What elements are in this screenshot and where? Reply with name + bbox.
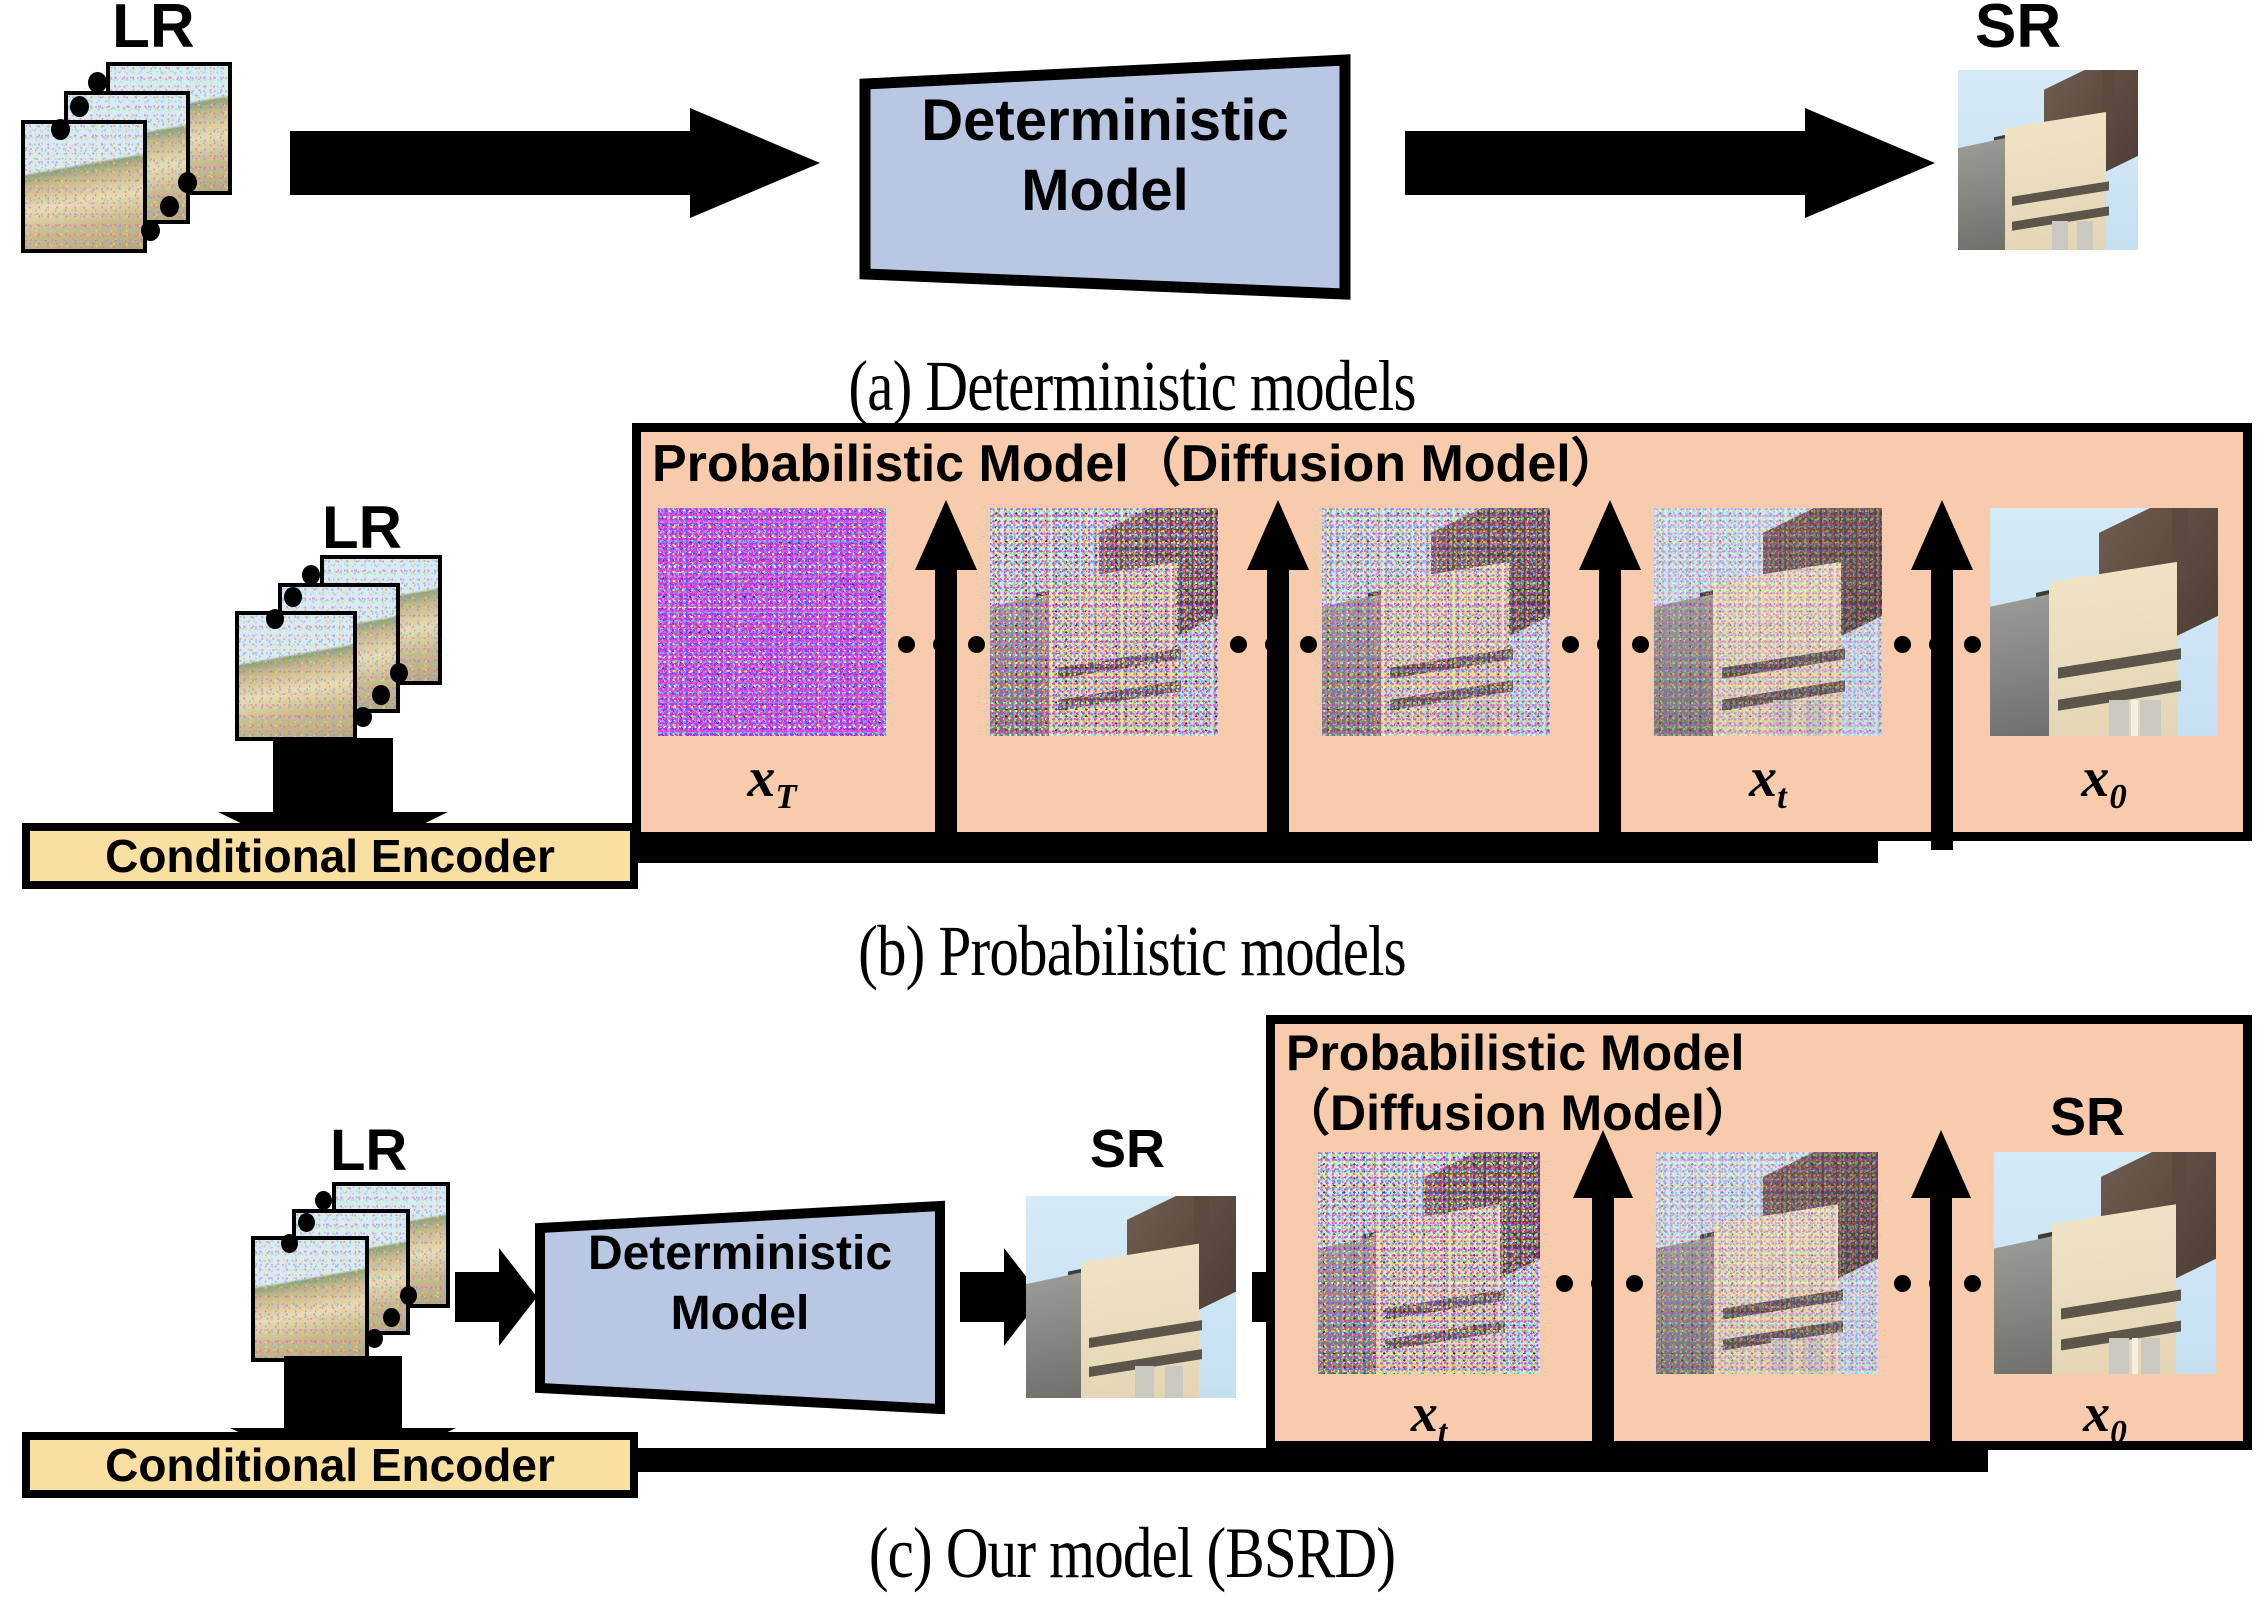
panel-b-step-label-xt: xt [1654, 746, 1882, 817]
panel-a: LR Deterministic Model SR (a) Determinis… [0, 0, 2264, 440]
stack-dot [160, 196, 179, 217]
panel-c-step-label-xt: xt [1318, 1382, 1540, 1452]
stack-dot [284, 587, 302, 607]
panel-b-step-image-x0 [1990, 508, 2218, 736]
panel-b-condition-arrow-2 [1247, 500, 1309, 850]
panel-a-output-arrow [1405, 108, 1935, 218]
panel-b: LR Conditional Encoder Probabilistic Mod… [0, 440, 2264, 1000]
stack-dot [266, 609, 284, 629]
panel-b-step-image-3 [1322, 508, 1550, 736]
panel-b-lr-label: LR [322, 498, 402, 558]
panel-c-condition-bus-line [638, 1448, 1988, 1472]
stack-dot [178, 172, 197, 193]
stack-dot [281, 1234, 298, 1253]
panel-b-step-label-x0: x0 [1990, 746, 2218, 817]
panel-c-condition-arrow-2 [1911, 1130, 1971, 1460]
panel-c-box-title-line-2: （Diffusion Model） [1280, 1088, 1755, 1138]
stack-dot [302, 565, 320, 585]
panel-c-box-title-line-1: Probabilistic Model [1286, 1028, 1744, 1078]
stack-dot [400, 1286, 417, 1305]
panel-a-deterministic-model-label-1: Deterministic [875, 92, 1335, 150]
panel-b-conditional-encoder[interactable]: Conditional Encoder [22, 823, 638, 889]
panel-c-input-arrow [455, 1248, 537, 1346]
lr-frame-front [235, 611, 357, 741]
panel-b-step-image-xt [1654, 508, 1882, 736]
panel-c-conditional-encoder-label: Conditional Encoder [105, 1442, 555, 1488]
stack-dot [298, 1213, 315, 1232]
panel-a-caption: (a) Deterministic models [722, 345, 1542, 428]
stack-dot [390, 663, 408, 683]
panel-c-step-image-x0 [1994, 1152, 2216, 1374]
panel-c-step-image-2 [1656, 1152, 1878, 1374]
panel-b-step-image-2 [990, 508, 1218, 736]
panel-a-lr-image-stack [18, 62, 228, 247]
panel-b-condition-arrow-4 [1911, 500, 1973, 850]
panel-b-caption: (b) Probabilistic models [722, 910, 1542, 993]
panel-a-input-arrow [290, 108, 820, 218]
panel-c-conditional-encoder[interactable]: Conditional Encoder [22, 1432, 638, 1498]
panel-b-conditional-encoder-label: Conditional Encoder [105, 833, 555, 879]
stack-dot [141, 220, 160, 241]
panel-c-sr-label: SR [2050, 1090, 2125, 1144]
panel-b-step-image-xT [658, 508, 886, 736]
stack-dot [366, 1329, 383, 1348]
panel-c-deterministic-model-label-1: Deterministic [540, 1230, 940, 1278]
panel-b-step-label-xT: xT [658, 746, 886, 817]
panel-c: LR Conditional Encoder Deterministic Mod… [0, 1000, 2264, 1604]
lr-frame-front [21, 120, 147, 253]
stack-dot [315, 1191, 332, 1210]
panel-a-sr-label: SR [1975, 0, 2061, 58]
panel-c-lr-label: LR [330, 1122, 407, 1180]
panel-c-intermediate-sr-label: SR [1090, 1122, 1165, 1176]
panel-c-caption: (c) Our model (BSRD) [722, 1512, 1542, 1595]
stack-dot [354, 707, 372, 727]
panel-a-sr-image [1958, 70, 2138, 250]
panel-b-box-title: Probabilistic Model（Diffusion Model） [652, 438, 1623, 490]
panel-c-condition-arrow-1 [1573, 1130, 1633, 1460]
lr-frame-front [251, 1236, 369, 1362]
panel-c-deterministic-model-label-2: Model [540, 1290, 940, 1338]
panel-c-intermediate-sr-image [1026, 1196, 1236, 1398]
stack-dot [88, 72, 107, 93]
panel-c-step-image-xt [1318, 1152, 1540, 1374]
panel-c-step-label-x0: x0 [1994, 1382, 2216, 1452]
stack-dot [70, 96, 89, 117]
stack-dot [383, 1308, 400, 1327]
panel-b-lr-image-stack [232, 555, 442, 740]
panel-a-lr-label: LR [112, 0, 195, 58]
panel-c-lr-image-stack [248, 1182, 448, 1360]
stack-dot [372, 685, 390, 705]
stack-dot [51, 119, 70, 140]
panel-b-condition-arrow-3 [1579, 500, 1641, 850]
panel-a-deterministic-model-label-2: Model [875, 162, 1335, 220]
panel-b-condition-arrow-1 [915, 500, 977, 850]
